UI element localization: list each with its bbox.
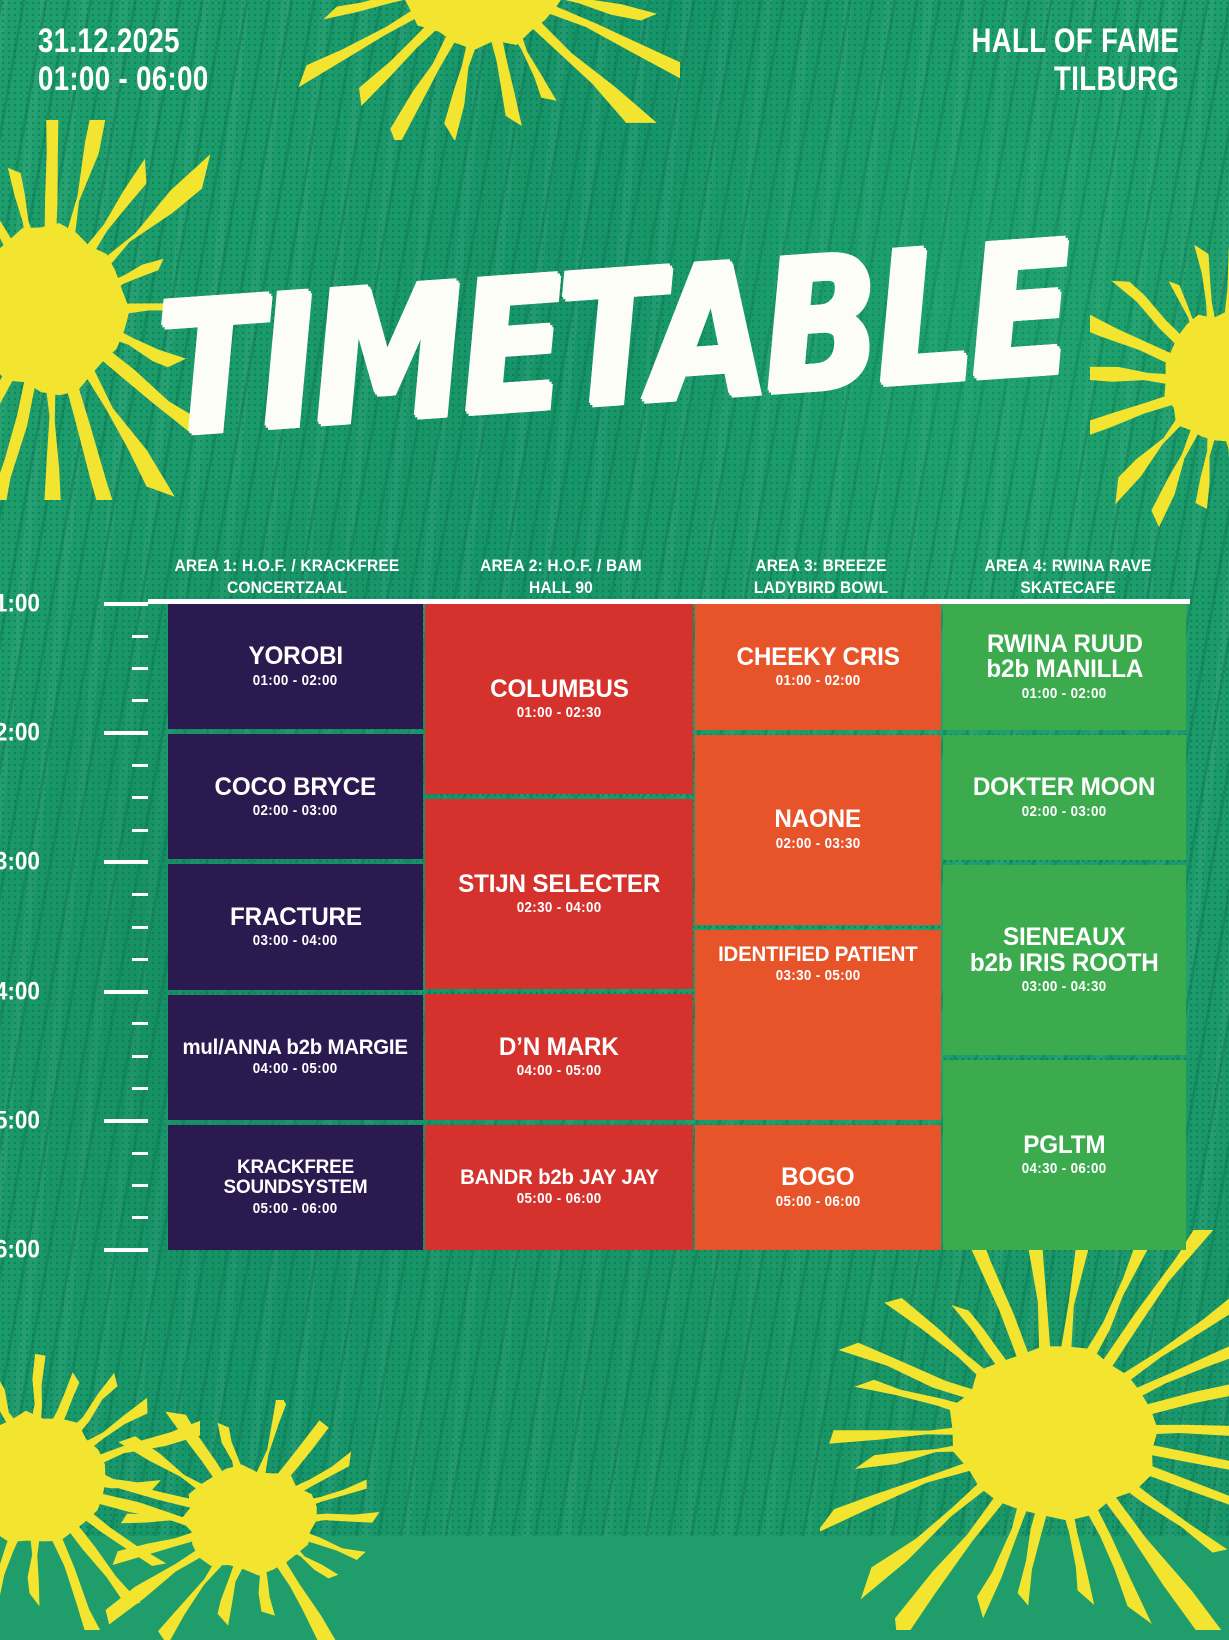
slot-time-range: 01:00 - 02:30: [517, 705, 602, 721]
area-heading-1-line1: AREA 1: H.O.F. / KRACKFREE: [156, 556, 417, 577]
timetable-slot: mul/ANNA b2b MARGIE04:00 - 05:00: [168, 995, 423, 1120]
slot-time-range: 02:00 - 03:00: [1022, 804, 1107, 820]
slot-artist-name: YOROBI: [248, 644, 342, 670]
area-heading-2-line1: AREA 2: H.O.F. / BAM: [434, 556, 688, 577]
axis-tick-minor: [132, 1087, 148, 1090]
timetable-slot: RWINA RUUDb2b MANILLA01:00 - 02:00: [943, 604, 1186, 730]
axis-tick-minor: [132, 958, 148, 961]
axis-tick-minor: [132, 893, 148, 896]
slot-artist-name: FRACTURE: [230, 905, 362, 931]
timetable-slot: BOGO05:00 - 06:00: [695, 1125, 941, 1251]
area-heading-2: AREA 2: H.O.F. / BAM HALL 90: [426, 556, 696, 602]
slot-time-range: 01:00 - 02:00: [1022, 686, 1107, 702]
area-heading-4-line2: SKATECAFE: [953, 577, 1182, 599]
slot-time-range: 04:00 - 05:00: [253, 1061, 338, 1077]
slot-time-range: 01:00 - 02:00: [776, 673, 861, 689]
timetable-slot: PGLTM04:30 - 06:00: [943, 1060, 1186, 1250]
slot-artist-name: CHEEKY CRIS: [736, 645, 899, 671]
axis-tick-major: [104, 990, 148, 994]
axis-tick-minor: [132, 1184, 148, 1187]
slot-time-range: 03:00 - 04:30: [1022, 979, 1107, 995]
area-heading-4: AREA 4: RWINA RAVE SKATECAFE: [946, 556, 1190, 602]
axis-time-label: 05:00: [0, 1106, 40, 1135]
slot-artist-name: BANDR b2b JAY JAY: [460, 1167, 659, 1188]
area-column-4: RWINA RUUDb2b MANILLA01:00 - 02:00DOKTER…: [943, 604, 1186, 1250]
area-column-3: CHEEKY CRIS01:00 - 02:00NAONE02:00 - 03:…: [695, 604, 941, 1250]
axis-tick-minor: [132, 635, 148, 638]
timetable-slot: IDENTIFIED PATIENT03:30 - 05:00: [695, 930, 941, 1120]
slot-time-range: 03:30 - 05:00: [776, 968, 861, 984]
slot-time-range: 02:30 - 04:00: [517, 900, 602, 916]
slot-artist-name: DOKTER MOON: [973, 775, 1155, 801]
axis-time-label: 03:00: [0, 848, 40, 877]
slot-time-range: 04:30 - 06:00: [1022, 1161, 1107, 1177]
venue-name: HALL OF FAME: [972, 22, 1180, 60]
timetable-slot: NAONE02:00 - 03:30: [695, 735, 941, 925]
timetable-slot: D’N MARK04:00 - 05:00: [425, 994, 693, 1120]
slot-time-range: 05:00 - 06:00: [517, 1191, 602, 1207]
timetable-grid: YOROBI01:00 - 02:00COCO BRYCE02:00 - 03:…: [168, 604, 1190, 1250]
slot-time-range: 05:00 - 06:00: [776, 1194, 861, 1210]
area-heading-3: AREA 3: BREEZE LADYBIRD BOWL: [696, 556, 946, 602]
timetable-slot: SIENEAUXb2b IRIS ROOTH03:00 - 04:30: [943, 865, 1186, 1055]
slot-artist-name: mul/ANNA b2b MARGIE: [183, 1037, 408, 1058]
timetable-slot: CHEEKY CRIS01:00 - 02:00: [695, 604, 941, 730]
slot-time-range: 05:00 - 06:00: [253, 1201, 338, 1217]
axis-tick-major: [104, 1119, 148, 1123]
axis-tick-minor: [132, 1055, 148, 1058]
area-heading-1-line2: CONCERTZAAL: [156, 577, 417, 599]
timetable-slot: COCO BRYCE02:00 - 03:00: [168, 734, 423, 859]
area-heading-1: AREA 1: H.O.F. / KRACKFREE CONCERTZAAL: [148, 556, 426, 602]
slot-time-range: 01:00 - 02:00: [253, 673, 338, 689]
axis-tick-minor: [132, 667, 148, 670]
slot-artist-name: COLUMBUS: [490, 677, 629, 703]
axis-tick-minor: [132, 829, 148, 832]
slot-artist-name: KRACKFREE SOUNDSYSTEM: [178, 1158, 414, 1198]
timetable-slot: DOKTER MOON02:00 - 03:00: [943, 735, 1186, 861]
event-hours: 01:00 - 06:00: [38, 60, 209, 98]
timetable-slot: BANDR b2b JAY JAY05:00 - 06:00: [425, 1125, 693, 1251]
slot-artist-name: D’N MARK: [499, 1035, 619, 1061]
page-title: TIMETABLE: [154, 218, 1075, 464]
slot-artist-name: NAONE: [775, 807, 862, 833]
area-heading-3-line1: AREA 3: BREEZE: [704, 556, 939, 577]
axis-tick-minor: [132, 1216, 148, 1219]
slot-artist-name: RWINA RUUDb2b MANILLA: [986, 632, 1143, 683]
axis-tick-minor: [132, 1152, 148, 1155]
timetable-slot: KRACKFREE SOUNDSYSTEM05:00 - 06:00: [168, 1125, 423, 1250]
slot-time-range: 04:00 - 05:00: [517, 1063, 602, 1079]
area-column-1: YOROBI01:00 - 02:00COCO BRYCE02:00 - 03:…: [168, 604, 423, 1250]
slot-artist-name: SIENEAUXb2b IRIS ROOTH: [970, 925, 1159, 976]
timetable-slot: STIJN SELECTER02:30 - 04:00: [425, 799, 693, 989]
axis-tick-major: [104, 602, 148, 606]
area-heading-2-line2: HALL 90: [434, 577, 688, 599]
area-headings-row: AREA 1: H.O.F. / KRACKFREE CONCERTZAAL A…: [148, 556, 1190, 602]
area-column-2: COLUMBUS01:00 - 02:30STIJN SELECTER02:30…: [425, 604, 693, 1250]
slot-time-range: 02:00 - 03:00: [253, 803, 338, 819]
axis-tick-minor: [132, 926, 148, 929]
timetable-slot: COLUMBUS01:00 - 02:30: [425, 604, 693, 794]
slot-time-range: 03:00 - 04:00: [253, 933, 338, 949]
event-date-block: 31.12.2025 01:00 - 06:00: [38, 22, 223, 98]
slot-artist-name: PGLTM: [1023, 1133, 1105, 1159]
area-heading-4-line1: AREA 4: RWINA RAVE: [953, 556, 1182, 577]
axis-time-label: 01:00: [0, 590, 40, 619]
axis-time-label: 02:00: [0, 719, 40, 748]
timetable-slot: YOROBI01:00 - 02:00: [168, 604, 423, 729]
axis-tick-major: [104, 1248, 148, 1252]
axis-time-label: 06:00: [0, 1236, 40, 1265]
venue-city: TILBURG: [972, 60, 1180, 98]
axis-time-label: 04:00: [0, 977, 40, 1006]
axis-tick-minor: [132, 796, 148, 799]
venue-block: HALL OF FAME TILBURG: [954, 22, 1180, 98]
area-heading-3-line2: LADYBIRD BOWL: [704, 577, 939, 599]
axis-tick-minor: [132, 699, 148, 702]
axis-tick-minor: [132, 1022, 148, 1025]
poster-title-wrap: TIMETABLE: [0, 236, 1229, 446]
time-axis: 01:0002:0003:0004:0005:0006:00: [0, 560, 168, 1300]
slot-artist-name: COCO BRYCE: [215, 775, 377, 801]
slot-time-range: 02:00 - 03:30: [776, 836, 861, 852]
slot-artist-name: IDENTIFIED PATIENT: [718, 944, 917, 965]
axis-tick-major: [104, 860, 148, 864]
event-date: 31.12.2025: [38, 22, 209, 60]
timetable-slot: FRACTURE03:00 - 04:00: [168, 864, 423, 989]
slot-artist-name: BOGO: [781, 1165, 854, 1191]
slot-artist-name: STIJN SELECTER: [458, 872, 660, 898]
axis-tick-major: [104, 731, 148, 735]
axis-tick-minor: [132, 764, 148, 767]
